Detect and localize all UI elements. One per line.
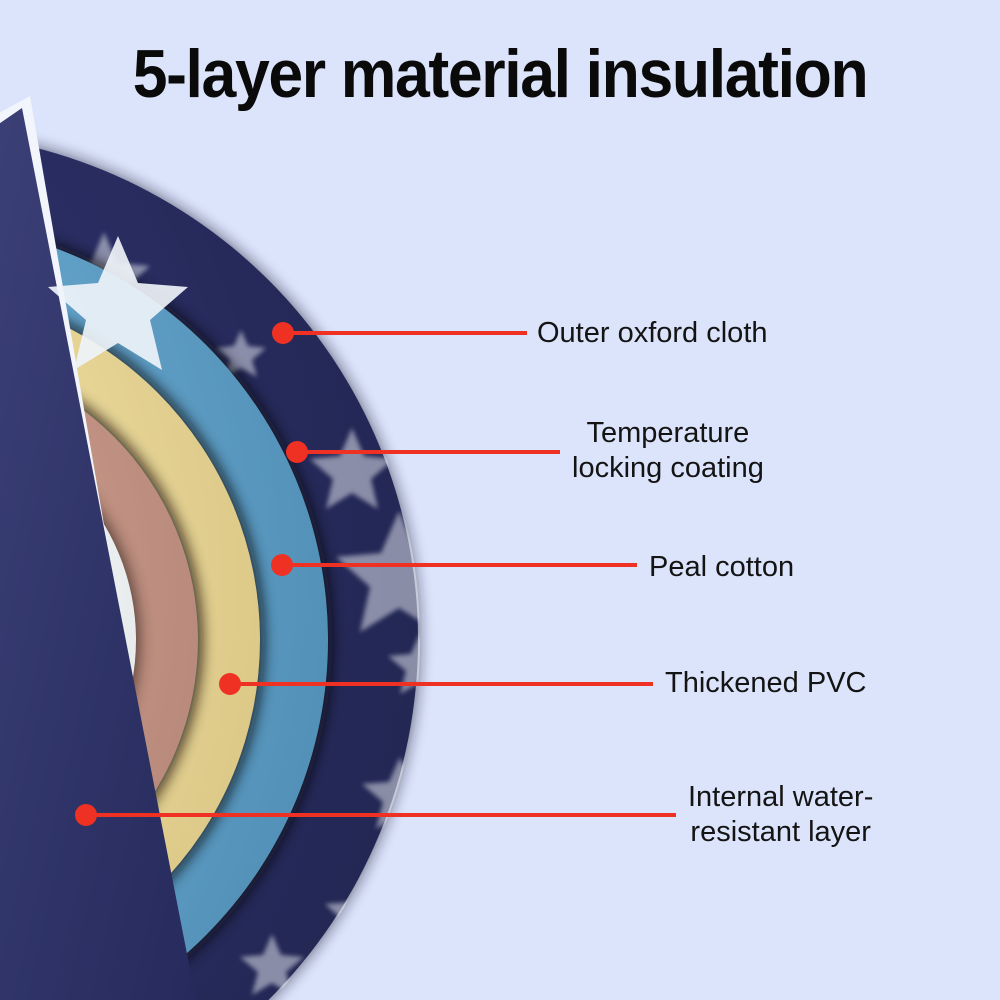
insulation-infographic: 5-layer material insulation	[0, 0, 1000, 1000]
leader-line-temperature-locking-coating	[286, 441, 560, 463]
callout-dot-icon	[286, 441, 308, 463]
callout-leader-group	[0, 0, 1000, 1000]
callout-dot-icon	[271, 554, 293, 576]
callout-dot-icon	[75, 804, 97, 826]
leader-line-outer-oxford-cloth	[272, 322, 527, 344]
leader-line-peal-cotton	[271, 554, 637, 576]
callout-dot-icon	[219, 673, 241, 695]
leader-line-internal-water-resistant-layer	[75, 804, 676, 826]
leader-line-thickened-pvc	[219, 673, 653, 695]
callout-dot-icon	[272, 322, 294, 344]
page-title: 5-layer material insulation	[40, 36, 960, 112]
